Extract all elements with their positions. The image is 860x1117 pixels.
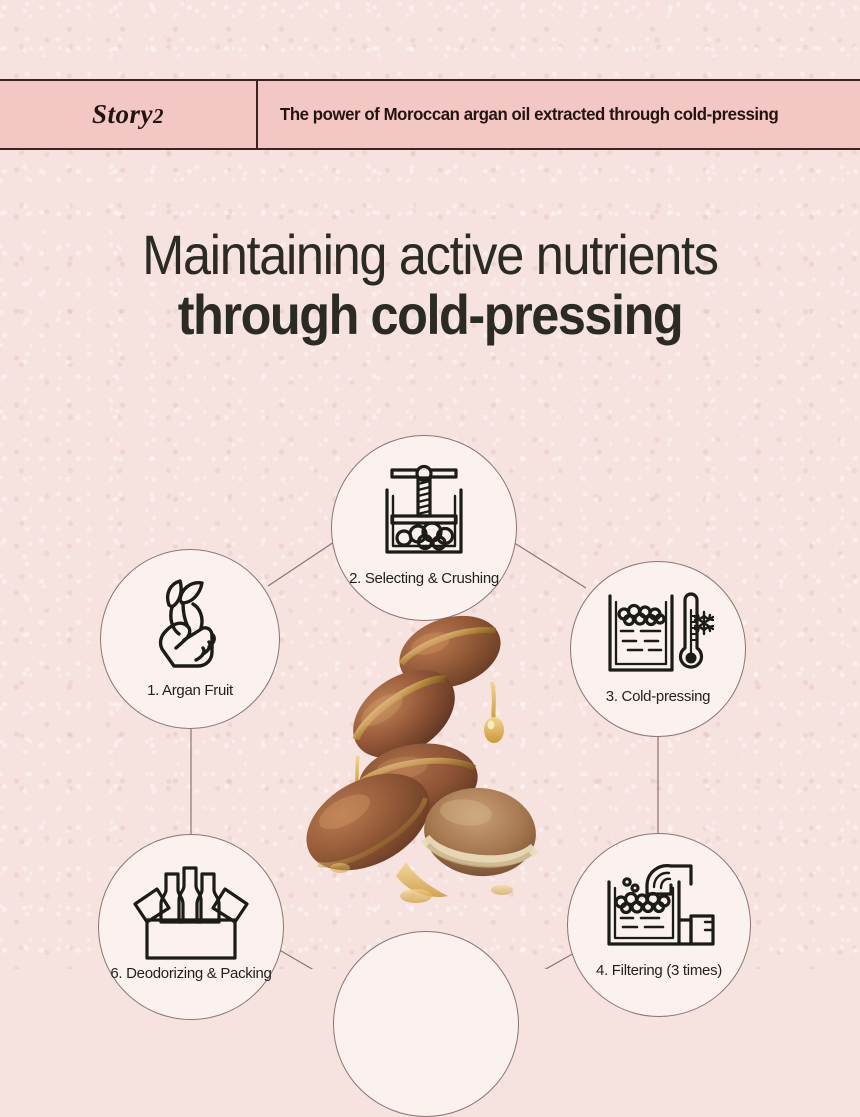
story-label-word: Story (92, 99, 153, 129)
story-subtitle: The power of Moroccan argan oil extracte… (280, 104, 778, 125)
bottles-in-crate-icon (99, 835, 283, 961)
story-label-number: 2 (153, 104, 164, 128)
story-subtitle-cell: The power of Moroccan argan oil extracte… (258, 81, 860, 148)
process-step-2-caption: 2. Selecting & Crushing (349, 570, 499, 587)
screw-press-crusher-icon (332, 436, 516, 566)
cropped-step-icon (334, 932, 518, 1058)
page-title-line-1: Maintaining active nutrients (43, 228, 817, 282)
story-label-cell: Story2 (0, 81, 258, 148)
process-step-6[interactable]: 6. Deodorizing & Packing (98, 834, 284, 1020)
filtering-vat-with-pipe-icon (568, 834, 750, 958)
process-step-3-caption: 3. Cold-pressing (606, 688, 710, 705)
process-step-4[interactable]: 4. Filtering (3 times) (567, 833, 751, 1017)
page-title-line-2: through cold-pressing (43, 288, 817, 342)
process-step-2[interactable]: 2. Selecting & Crushing (331, 435, 517, 621)
process-step-4-caption: 4. Filtering (3 times) (596, 962, 722, 979)
process-step-6-caption: 6. Deodorizing & Packing (110, 965, 271, 982)
hand-holding-argan-fruit-icon (101, 550, 279, 680)
story-header-band: Story2 The power of Moroccan argan oil e… (0, 79, 860, 150)
story-label: Story2 (92, 99, 164, 130)
argan-nuts-artwork (296, 604, 564, 910)
page-title: Maintaining active nutrients through col… (0, 228, 860, 342)
process-step-1[interactable]: 1. Argan Fruit (100, 549, 280, 729)
argan-nuts-illustration (296, 604, 564, 910)
process-step-1-caption: 1. Argan Fruit (147, 682, 233, 699)
vat-with-thermometer-snowflake-icon (571, 562, 745, 684)
process-step-3[interactable]: 3. Cold-pressing (570, 561, 746, 737)
process-step-5[interactable] (333, 931, 519, 1117)
